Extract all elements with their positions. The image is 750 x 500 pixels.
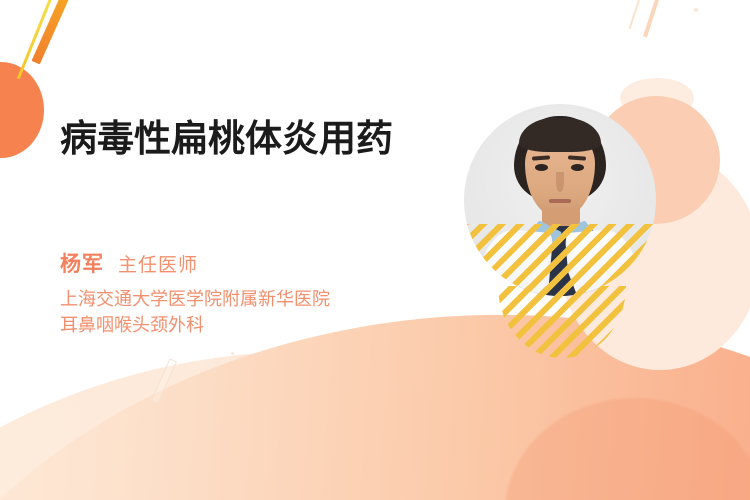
orange-circle-decoration — [0, 62, 44, 158]
page-title: 病毒性扁桃体炎用药 — [60, 118, 410, 161]
portrait-eye-left — [535, 164, 548, 171]
faint-dot-decoration-bottom — [231, 352, 234, 355]
portrait-mouth — [549, 199, 571, 203]
doctor-affiliation: 上海交通大学医学院附属新华医院 耳鼻咽喉头颈外科 — [60, 287, 420, 338]
faint-stripe-top-right-outer — [643, 0, 663, 37]
portrait-hair-fringe — [519, 118, 601, 152]
portrait-disc-background — [464, 104, 656, 296]
portrait-eye-right — [571, 164, 584, 171]
doctor-hospital: 上海交通大学医学院附属新华医院 — [60, 287, 420, 313]
faint-stripe-top-right-inner — [629, 0, 646, 29]
doctor-name: 杨军 — [60, 248, 104, 278]
doctor-rank: 主任医师 — [118, 250, 198, 277]
portrait-nose — [556, 172, 564, 192]
doctor-info-poster: 病毒性扁桃体炎用药 杨军 主任医师 上海交通大学医学院附属新华医院 耳鼻咽喉头颈… — [0, 0, 750, 500]
yellow-striped-overflow-decoration — [498, 286, 626, 358]
doctor-department: 耳鼻咽喉头颈外科 — [60, 313, 420, 339]
doctor-portrait — [464, 104, 656, 296]
faint-dot-decoration-top — [694, 8, 698, 12]
doctor-identity: 杨军 主任医师 — [60, 248, 198, 278]
